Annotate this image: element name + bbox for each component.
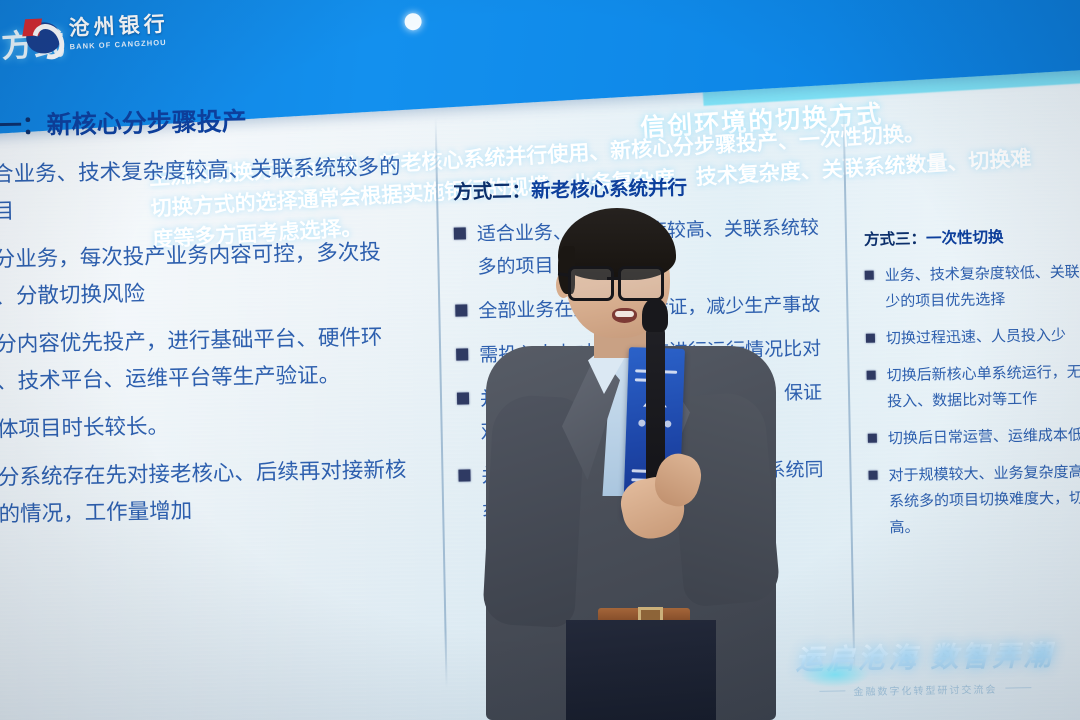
list-item-text: 对于规模较大、业务复杂度高、关联系统多的项目切换难度大，切换风险高。 (888, 459, 1080, 542)
square-bullet-icon (867, 371, 876, 380)
list-item: 适合业务、技术复杂度较高、关联系统较多的项目 (0, 148, 419, 231)
bank-name-cn: 沧州银行 (68, 13, 169, 39)
square-bullet-icon (866, 334, 875, 343)
column-1-heading: 方式一：新核心分步骤投产 (0, 98, 417, 143)
slogan-rule-left (819, 690, 845, 691)
column-3-heading-value: 一次性切换 (926, 229, 1004, 247)
event-slogan-sub: 金融数字化转型研讨交流会 (853, 681, 997, 699)
list-item-text: 整体项目时长较长。 (0, 408, 169, 449)
square-bullet-icon (454, 227, 466, 239)
bank-logo: 沧州银行 BANK OF CANGZHOU (23, 9, 170, 58)
speaker-trousers (566, 620, 716, 720)
list-item: 部分内容优先投产，进行基础平台、硬件环境、技术平台、运维平台等生产验证。 (0, 318, 422, 401)
list-item-text: 适合业务、技术复杂度较高、关联系统较多的项目 (0, 148, 419, 231)
square-bullet-icon (868, 471, 877, 480)
column-3-heading: 方式三：一次性切换 (864, 223, 1080, 250)
microphone-head-icon (642, 298, 668, 332)
list-item: 切换后日常运营、运维成本低 (868, 422, 1080, 453)
column-3-heading-label: 方式三： (864, 231, 926, 249)
speaker (470, 206, 800, 720)
slogan-rule-right (1005, 687, 1031, 688)
column-divider-2 (843, 110, 855, 670)
square-bullet-icon (455, 304, 467, 316)
column-approach-1: 方式一：新核心分步骤投产 适合业务、技术复杂度较高、关联系统较多的项目 拆分业务… (0, 98, 425, 545)
column-1-heading-label: 方式一： (0, 111, 47, 141)
list-item: 切换过程迅速、人员投入少 (866, 322, 1080, 353)
bank-name-en: BANK OF CANGZHOU (69, 38, 169, 50)
list-item-text: 切换后新核心单系统运行，无需二次投入、数据比对等工作 (886, 359, 1080, 416)
column-approach-3: 方式三：一次性切换 业务、技术复杂度较低、关联系统较少的项目优先选择 切换过程迅… (864, 223, 1080, 553)
list-item: 拆分业务，每次投产业务内容可控，多次投产、分散切换风险 (0, 233, 420, 316)
square-bullet-icon (865, 271, 874, 280)
list-item-text: 部分内容优先投产，进行基础平台、硬件环境、技术平台、运维平台等生产验证。 (0, 318, 422, 401)
list-item-text: 切换后日常运营、运维成本低 (888, 423, 1080, 453)
bullet-dot-icon (404, 12, 423, 31)
column-1-heading-value: 新核心分步骤投产 (46, 108, 247, 140)
conference-photo: 方式 信创环境的切换方式 主流的切换方式为三种：新老核心系统并行使用、新核心分步… (0, 0, 1080, 720)
list-item: 整体项目时长较长。 (0, 403, 423, 449)
list-item: 对于规模较大、业务复杂度高、关联系统多的项目切换难度大，切换风险高。 (868, 459, 1080, 542)
bank-logo-mark-icon (23, 16, 63, 56)
list-item: 部分系统存在先对接老核心、后续再对接新核心的情况，工作量增加 (0, 451, 424, 534)
event-slogan: 运启沧海 数智弄潮 金融数字化转型研讨交流会 (779, 633, 1070, 699)
column-2-heading-value: 新老核心系统并行 (531, 177, 687, 202)
column-1-bullets: 适合业务、技术复杂度较高、关联系统较多的项目 拆分业务，每次投产业务内容可控，多… (0, 148, 424, 534)
square-bullet-icon (458, 469, 470, 481)
list-item-text: 业务、技术复杂度较低、关联系统较少的项目优先选择 (885, 259, 1080, 316)
square-bullet-icon (868, 434, 877, 443)
list-item-text: 拆分业务，每次投产业务内容可控，多次投产、分散切换风险 (0, 233, 420, 316)
list-item-text: 切换过程迅速、人员投入少 (886, 323, 1066, 352)
speaker-mouth (612, 308, 637, 323)
square-bullet-icon (457, 392, 469, 404)
column-2-heading: 方式二：新老核心系统并行 (453, 168, 833, 204)
glasses-icon (566, 266, 674, 296)
column-2-heading-label: 方式二： (453, 180, 531, 203)
list-item: 业务、技术复杂度较低、关联系统较少的项目优先选择 (865, 259, 1080, 316)
list-item-text: 部分系统存在先对接老核心、后续再对接新核心的情况，工作量增加 (0, 451, 424, 534)
column-divider-1 (435, 118, 447, 688)
square-bullet-icon (456, 348, 468, 360)
column-3-bullets: 业务、技术复杂度较低、关联系统较少的项目优先选择 切换过程迅速、人员投入少 切换… (865, 259, 1080, 542)
list-item: 切换后新核心单系统运行，无需二次投入、数据比对等工作 (866, 359, 1080, 416)
